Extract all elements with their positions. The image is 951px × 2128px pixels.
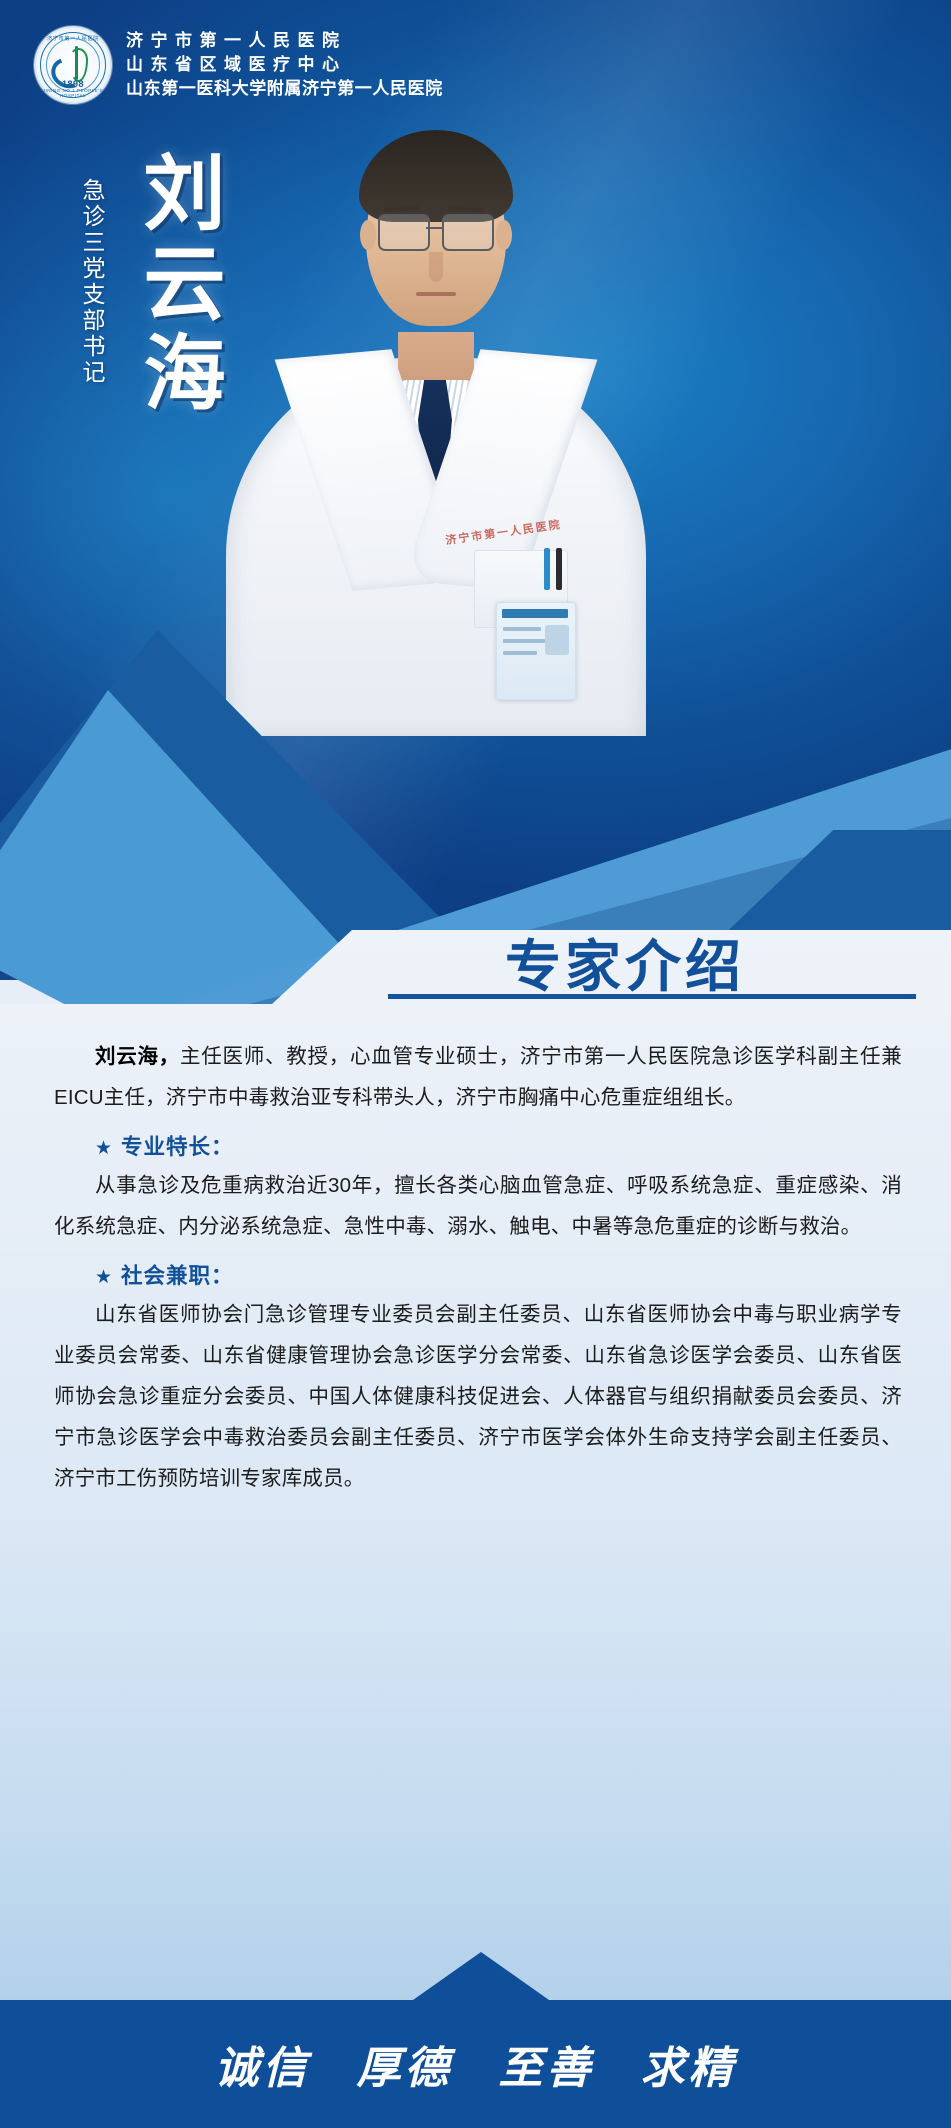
social-heading-label: 社会兼职： xyxy=(121,1264,234,1288)
hair xyxy=(359,130,513,222)
star-icon: ★ xyxy=(95,1138,113,1159)
badge-line xyxy=(503,627,541,631)
eyeglasses-lens-left xyxy=(378,214,430,251)
intro-paragraph-text: 主任医师、教授，心血管专业硕士，济宁市第一人民医院急诊医学科副主任兼EICU主任… xyxy=(54,1045,902,1109)
specialty-heading-label: 专业特长： xyxy=(121,1135,234,1159)
hospital-slogan: 诚信 厚德 至善 求精 xyxy=(0,2000,951,2128)
footer-notch xyxy=(0,1950,951,2000)
footer-bar: 诚信 厚德 至善 求精 xyxy=(0,2000,951,2128)
specialty-paragraph: 从事急诊及危重病救治近30年，擅长各类心脑血管急症、呼吸系统急症、重症感染、消化… xyxy=(54,1165,902,1247)
nose xyxy=(429,252,443,282)
pen-blue-icon xyxy=(544,548,550,590)
slogan-word-1: 诚信 xyxy=(215,2032,311,2096)
staff-id-badge xyxy=(496,602,576,700)
doctor-name: 刘云海 xyxy=(118,150,237,420)
logo-arc-top-text: 济宁市第一人民医院 xyxy=(36,35,110,42)
section-title-underline xyxy=(388,994,916,999)
intro-doctor-name: 刘云海， xyxy=(95,1045,180,1068)
specialty-heading: ★专业特长： xyxy=(54,1130,902,1161)
hospital-brand: 济宁市第一人民医院 1898 JINING NO.1 PEOPLE'S HOSP… xyxy=(34,26,443,104)
hospital-name-line-3: 山东第一医科大学附属济宁第一人民医院 xyxy=(126,78,443,100)
logo-arc-bottom-text: JINING NO.1 PEOPLE'S HOSPITAL xyxy=(36,88,110,98)
social-heading: ★社会兼职： xyxy=(54,1259,902,1290)
hospital-name-lines: 济宁市第一人民医院 山东省区域医疗中心 山东第一医科大学附属济宁第一人民医院 xyxy=(126,30,443,99)
doctor-photo: 济宁市第一人民医院 xyxy=(226,96,646,736)
profile-body: 刘云海，主任医师、教授，心血管专业硕士，济宁市第一人民医院急诊医学科副主任兼EI… xyxy=(54,1036,902,1505)
footer-triangle-icon xyxy=(413,1952,549,2000)
badge-line xyxy=(503,651,537,655)
star-icon: ★ xyxy=(95,1267,113,1288)
social-paragraph: 山东省医师协会门急诊管理专业委员会副主任委员、山东省医师协会中毒与职业病学专业委… xyxy=(54,1294,902,1499)
content-panel: 专家介绍 刘云海，主任医师、教授，心血管专业硕士，济宁市第一人民医院急诊医学科副… xyxy=(0,930,951,2002)
hospital-logo-icon: 济宁市第一人民医院 1898 JINING NO.1 PEOPLE'S HOSP… xyxy=(34,26,112,104)
slogan-word-2: 厚德 xyxy=(357,2032,453,2096)
badge-line xyxy=(503,639,545,643)
ear-left xyxy=(360,220,376,250)
hospital-name-line-2: 山东省区域医疗中心 xyxy=(126,54,443,76)
badge-photo xyxy=(545,625,569,655)
slogan-word-4: 求精 xyxy=(641,2032,737,2096)
section-title: 专家介绍 xyxy=(505,922,925,1003)
intro-paragraph: 刘云海，主任医师、教授，心血管专业硕士，济宁市第一人民医院急诊医学科副主任兼EI… xyxy=(54,1036,902,1118)
doctor-position-title: 急诊三党支部书记 xyxy=(75,178,109,386)
badge-header-bar xyxy=(502,609,568,618)
pen-black-icon xyxy=(556,548,562,590)
mouth xyxy=(416,292,456,296)
hospital-name-line-1: 济宁市第一人民医院 xyxy=(126,30,443,52)
ear-right xyxy=(496,220,512,250)
slogan-word-3: 至善 xyxy=(499,2032,595,2096)
eyeglasses-bridge xyxy=(426,227,442,229)
eyeglasses-lens-right xyxy=(442,214,494,251)
expert-profile-poster: 济宁市第一人民医院 济宁市第一人民医院 1898 JINING NO.1 PEO… xyxy=(0,0,951,2128)
